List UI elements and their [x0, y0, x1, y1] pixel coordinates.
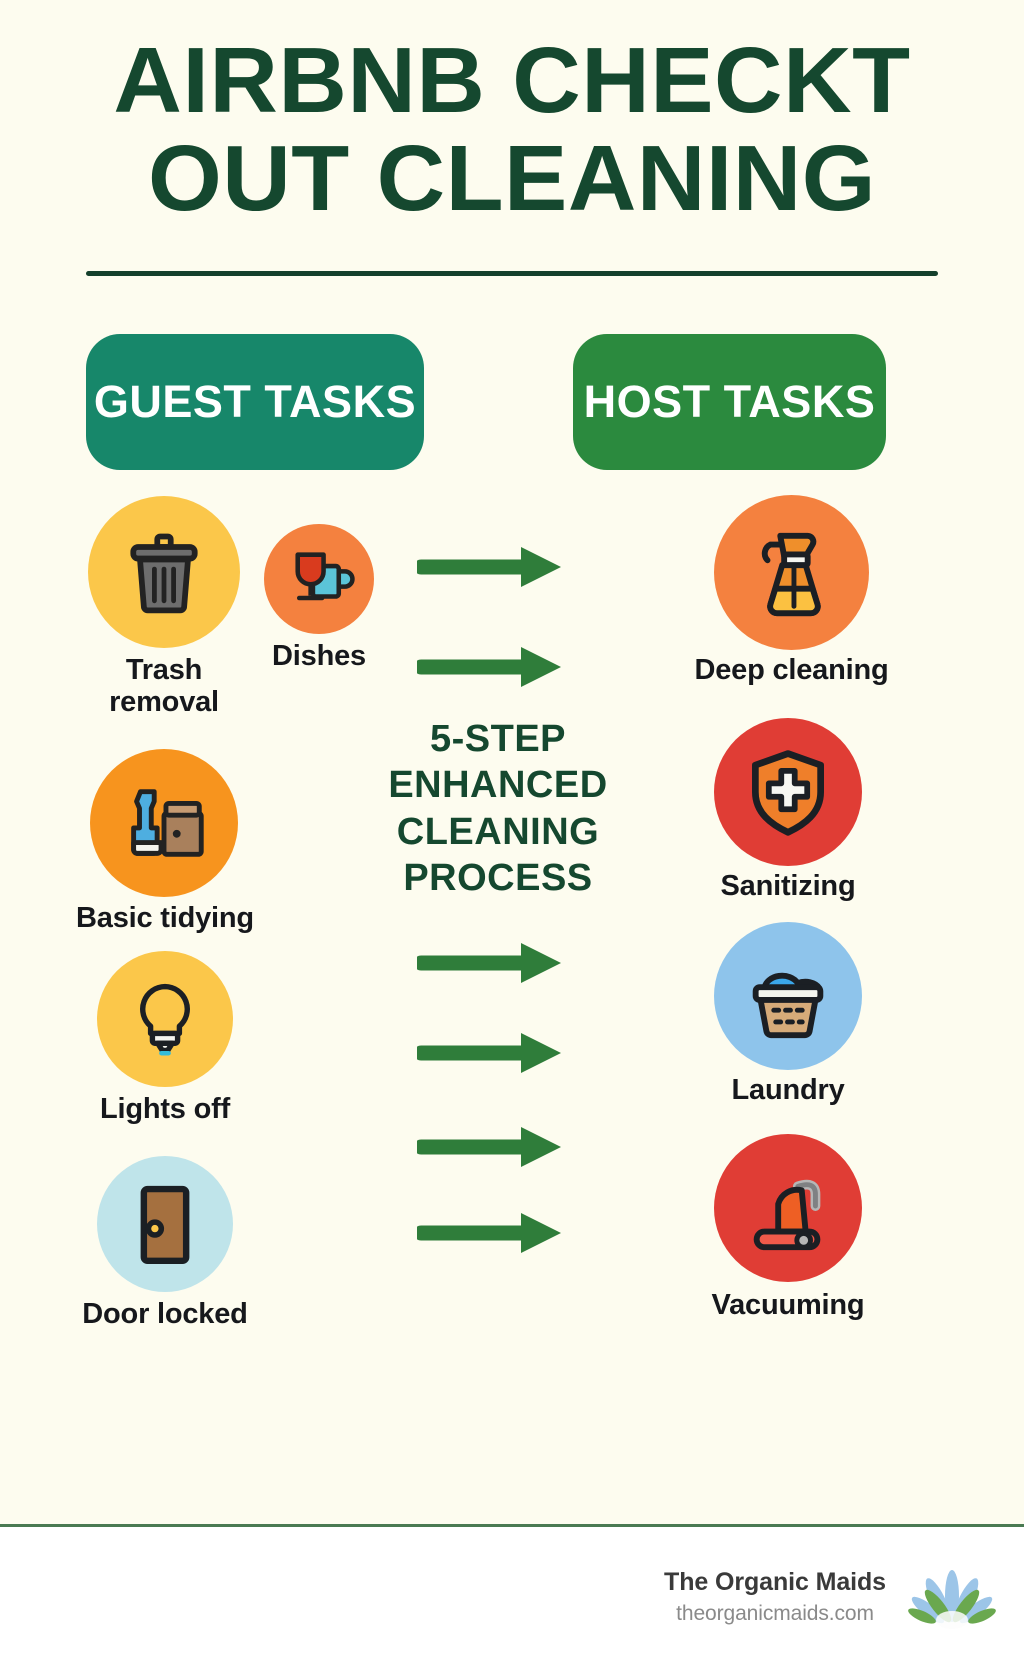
host-task-label: Vacuuming [690, 1289, 886, 1321]
infographic-poster: AIRBNB CHECKT OUT CLEANING GUEST TASKS H… [0, 0, 1024, 1666]
host-task-label: Deep cleaning [664, 654, 919, 686]
guest-task-label: Lights off [77, 1093, 253, 1125]
guest-task-label: Dishes [244, 640, 394, 672]
bottle-cabinet-icon [90, 749, 238, 897]
title-divider [86, 271, 938, 276]
process-text: 5-STEP ENHANCED CLEANING PROCESS [358, 716, 638, 901]
brand-name: The Organic Maids [664, 1568, 886, 1597]
process-arrow-2 [417, 641, 565, 698]
host-task-label: Sanitizing [690, 870, 886, 902]
title-line-1: AIRBNB CHECKT [0, 34, 1024, 126]
guest-task-label: Door locked [65, 1298, 265, 1330]
process-arrow-6 [417, 1207, 565, 1264]
host-task-vacuuming: Vacuuming [714, 1134, 862, 1282]
host-task-sanitizing: Sanitizing [714, 718, 862, 866]
process-arrow-5 [417, 1121, 565, 1178]
laundry-basket-icon [714, 922, 862, 1070]
guest-tasks-header: GUEST TASKS [86, 334, 424, 470]
shield-cross-icon [714, 718, 862, 866]
title-line-2: OUT CLEANING [0, 132, 1024, 224]
process-arrow-4 [417, 1027, 565, 1084]
vacuum-cleaner-icon [714, 1134, 862, 1282]
door-icon [97, 1156, 233, 1292]
guest-task-label: Basic tidying [62, 902, 268, 934]
host-task-laundry: Laundry [714, 922, 862, 1070]
guest-task-dishes: Dishes [264, 524, 374, 634]
process-arrow-1 [417, 541, 565, 598]
host-task-label: Laundry [694, 1074, 882, 1106]
guest-task-label: Trash removal [80, 654, 248, 719]
footer: The Organic Maids theorganicmaids.com [0, 1527, 1024, 1666]
leaf-lotus-logo [904, 1562, 1000, 1632]
page-title: AIRBNB CHECKT OUT CLEANING [0, 34, 1024, 224]
guest-task-lights-off: Lights off [97, 951, 233, 1087]
dishes-icon [264, 524, 374, 634]
host-task-deep-cleaning: Deep cleaning [714, 495, 869, 650]
guest-task-basic-tidying: Basic tidying [90, 749, 238, 897]
guest-task-trash-removal: Trash removal [88, 496, 240, 648]
guest-task-door-locked: Door locked [97, 1156, 233, 1292]
light-bulb-icon [97, 951, 233, 1087]
footer-text-group: The Organic Maids theorganicmaids.com [664, 1568, 886, 1626]
brand-url[interactable]: theorganicmaids.com [664, 1602, 886, 1626]
spray-bottle-icon [714, 495, 869, 650]
trash-can-icon [88, 496, 240, 648]
host-tasks-header: HOST TASKS [573, 334, 886, 470]
process-arrow-3 [417, 937, 565, 994]
